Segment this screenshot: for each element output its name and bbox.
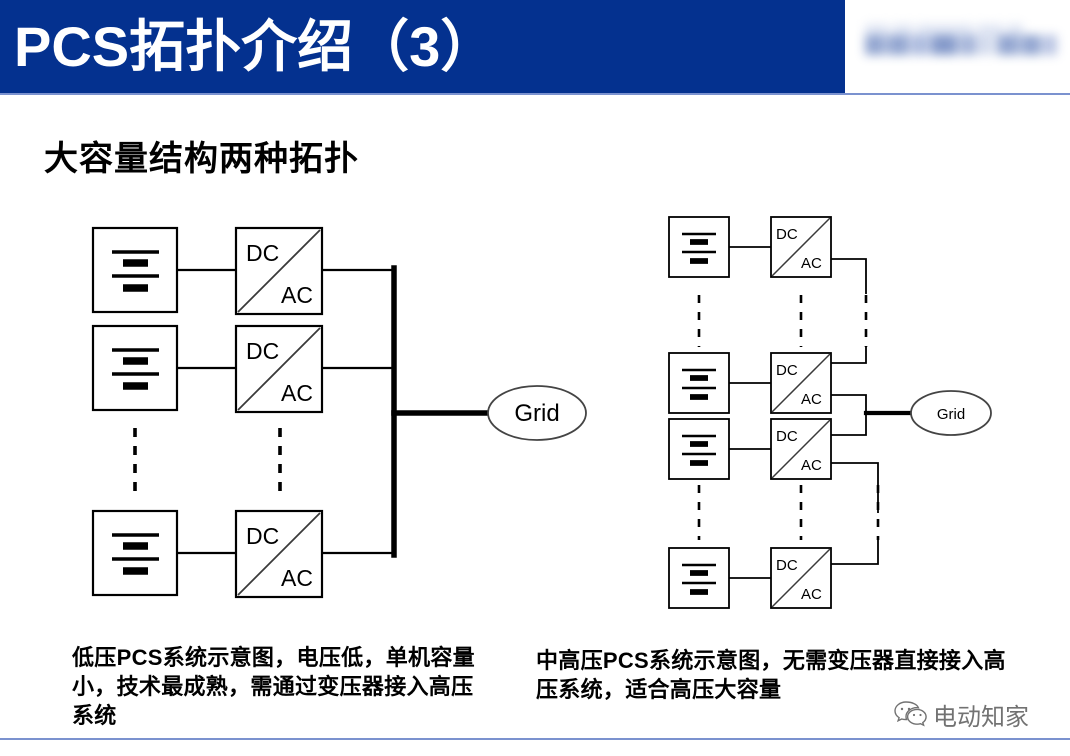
left-topology-group: DC AC DC AC (93, 228, 586, 597)
cascade-link-down (831, 259, 866, 294)
cascade-link-in (831, 413, 866, 435)
logo-area (845, 0, 1070, 93)
right-unit-1: DC AC (669, 217, 866, 294)
cascade-link-down (831, 395, 866, 413)
watermark: 电动知家 (893, 694, 1068, 734)
left-unit-2: DC AC (93, 326, 394, 412)
converter-ac-label: AC (281, 380, 313, 406)
battery-box (93, 326, 177, 410)
converter-ac-label: AC (281, 565, 313, 591)
slide-canvas: PCS拓扑介绍（3） 大容量结构两种拓扑 .bx { fill:#ffffff;… (0, 0, 1070, 756)
battery-box (669, 419, 729, 479)
converter-dc-label: DC (776, 226, 798, 243)
converter-ac-label: AC (801, 586, 822, 603)
cascade-link-down (831, 463, 878, 513)
battery-box (93, 511, 177, 595)
right-unit-2: DC AC (669, 347, 866, 413)
converter-ac-label: AC (801, 391, 822, 408)
battery-box (669, 548, 729, 608)
converter-ac-label: AC (801, 457, 822, 474)
right-unit-3: DC AC (669, 413, 878, 513)
converter-dc-label: DC (246, 240, 279, 266)
battery-box (669, 217, 729, 277)
battery-box (93, 228, 177, 312)
right-unit-n: DC AC (669, 540, 878, 608)
grid-label: Grid (937, 406, 965, 423)
header-underline (0, 93, 1070, 95)
left-unit-1: DC AC (93, 228, 394, 314)
battery-box (669, 353, 729, 413)
blurred-logo-icon (859, 22, 1059, 67)
left-unit-n: DC AC (93, 511, 394, 597)
cascade-link-in (831, 347, 866, 363)
caption-left-topology: 低压PCS系统示意图，电压低，单机容量小，技术最成熟，需通过变压器接入高压系统 (72, 643, 492, 730)
converter-dc-label: DC (776, 428, 798, 445)
page-title: PCS拓扑介绍（3） (14, 6, 834, 88)
right-topology-group: DC AC DC AC (669, 217, 991, 608)
converter-dc-label: DC (246, 338, 279, 364)
cascade-link-in (831, 540, 878, 564)
section-subtitle: 大容量结构两种拓扑 (44, 131, 359, 180)
wechat-icon (893, 699, 927, 729)
converter-dc-label: DC (776, 557, 798, 574)
watermark-label: 电动知家 (933, 697, 1029, 732)
topology-diagram: .bx { fill:#ffffff; stroke:#000000; stro… (0, 195, 1070, 635)
converter-ac-label: AC (281, 282, 313, 308)
converter-dc-label: DC (246, 523, 279, 549)
grid-label: Grid (514, 400, 559, 427)
converter-ac-label: AC (801, 255, 822, 272)
bottom-rule (0, 738, 1070, 740)
converter-dc-label: DC (776, 362, 798, 379)
